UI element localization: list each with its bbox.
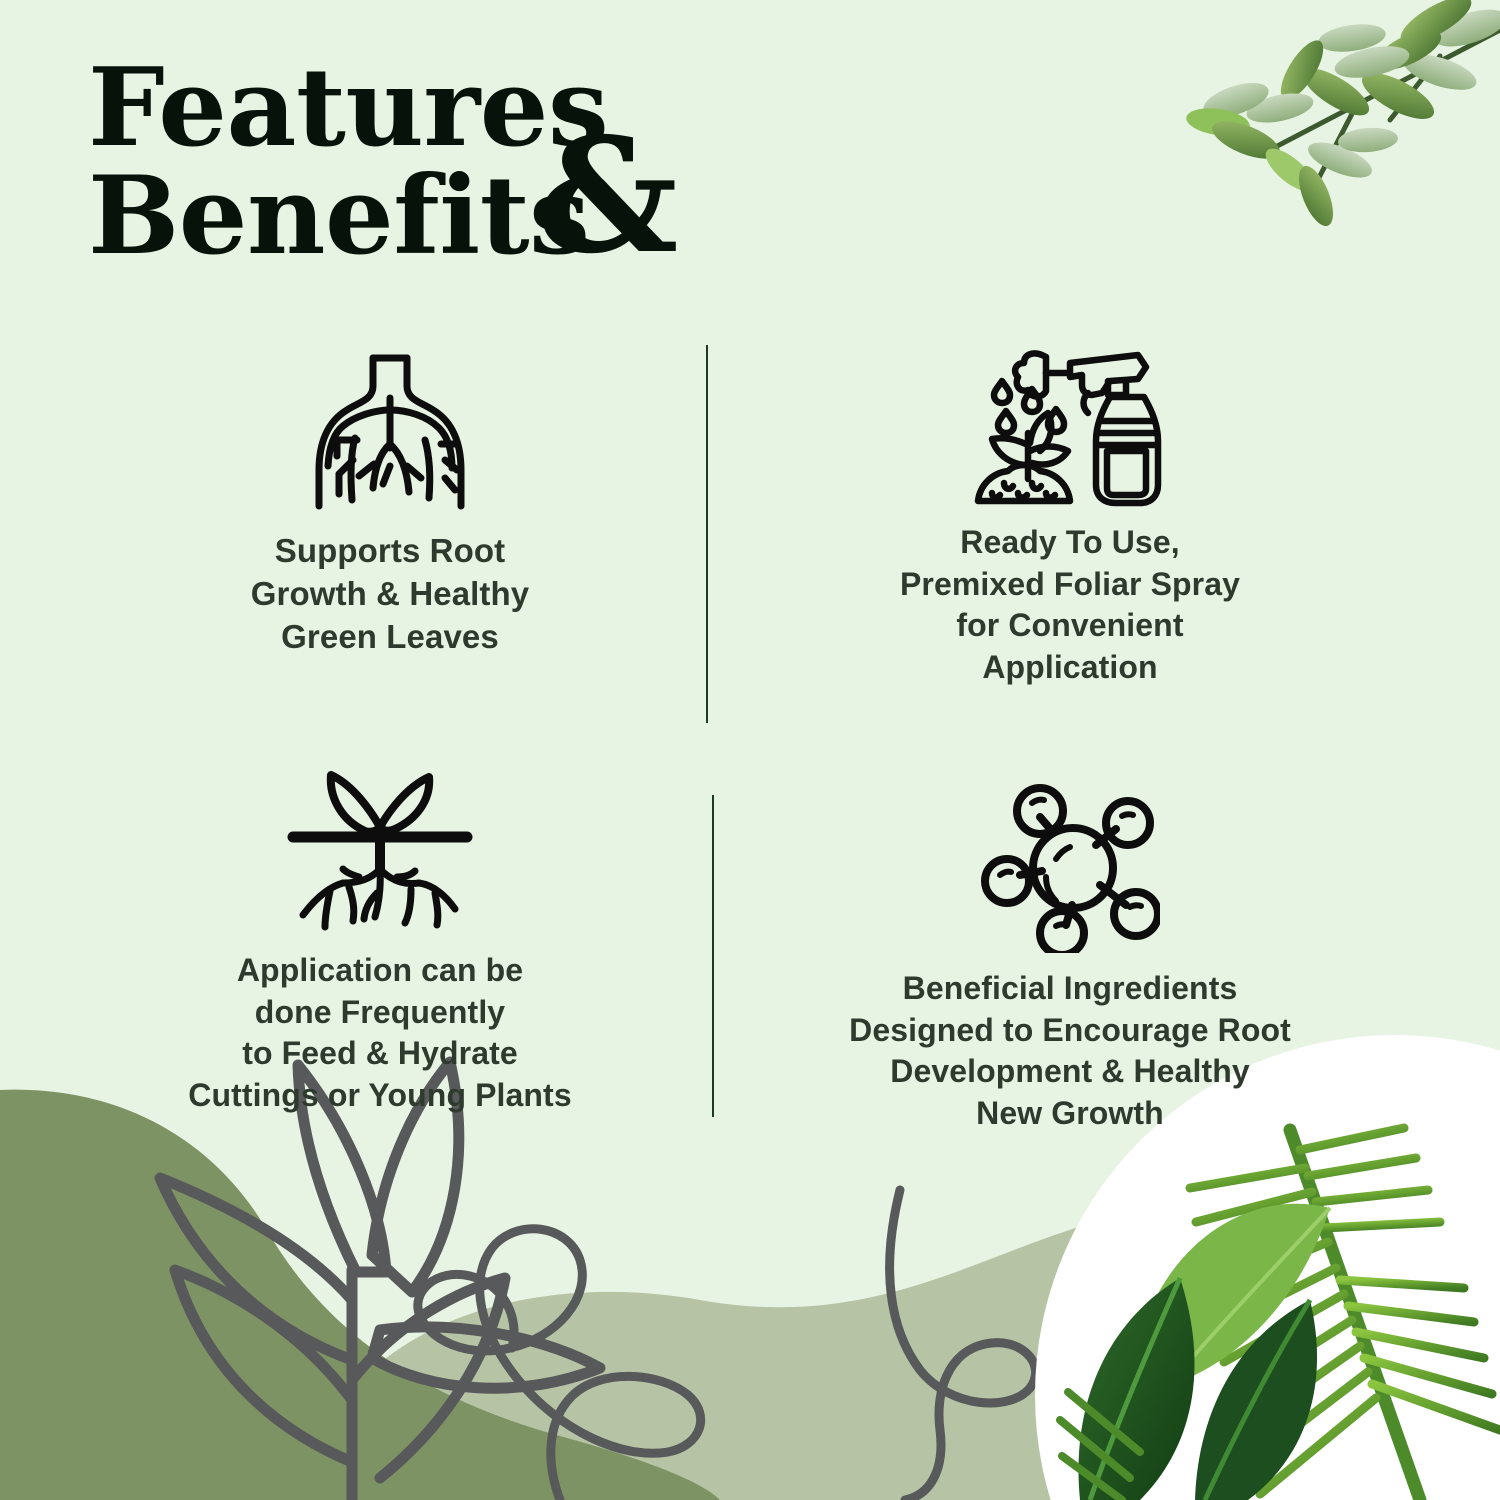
looping-squiggle-line-art bbox=[418, 1190, 1036, 1500]
feature-item-supports-root-growth: Supports Root Growth & Healthy Green Lea… bbox=[140, 340, 640, 659]
feature-icon-slot bbox=[140, 340, 640, 520]
features-grid: Supports Root Growth & Healthy Green Lea… bbox=[0, 330, 1500, 1170]
title-line-benefits: Benefits bbox=[88, 162, 589, 270]
seedling-roots-soil-line-icon bbox=[285, 765, 475, 935]
broad-leaf-dark bbox=[1078, 1278, 1194, 1500]
broad-leaf-light bbox=[1143, 1204, 1330, 1386]
title-line-features: Features bbox=[88, 54, 608, 162]
feature-caption: Ready To Use, Premixed Foliar Spray for … bbox=[800, 522, 1340, 688]
feature-icon-slot bbox=[800, 332, 1340, 512]
spray-bottle-plant-icon bbox=[970, 333, 1170, 511]
molecule-icon bbox=[980, 783, 1160, 953]
feature-item-beneficial-ingredients: Beneficial Ingredients Designed to Encou… bbox=[760, 778, 1380, 1134]
feature-item-frequent-application: Application can be done Frequently to Fe… bbox=[110, 760, 650, 1116]
sage-green-blob bbox=[300, 1199, 1500, 1500]
page-title: Features Benefits & bbox=[88, 36, 728, 266]
broad-leaf-dark-2 bbox=[1195, 1300, 1317, 1500]
tree-roots-icon bbox=[295, 348, 485, 513]
feature-icon-slot bbox=[110, 760, 650, 940]
feature-icon-slot bbox=[760, 778, 1380, 958]
feature-caption: Supports Root Growth & Healthy Green Lea… bbox=[140, 530, 640, 659]
tropical-palm-leaves-photo bbox=[1060, 1128, 1500, 1500]
feature-item-ready-to-use-spray: Ready To Use, Premixed Foliar Spray for … bbox=[800, 332, 1340, 688]
feature-caption: Application can be done Frequently to Fe… bbox=[110, 950, 650, 1116]
poster-canvas: Features Benefits & bbox=[0, 0, 1500, 1500]
branch-leaves bbox=[1185, 0, 1500, 231]
feature-caption: Beneficial Ingredients Designed to Encou… bbox=[760, 968, 1380, 1134]
eucalyptus-branch-photo bbox=[1140, 0, 1500, 270]
title-ampersand: & bbox=[536, 118, 679, 276]
